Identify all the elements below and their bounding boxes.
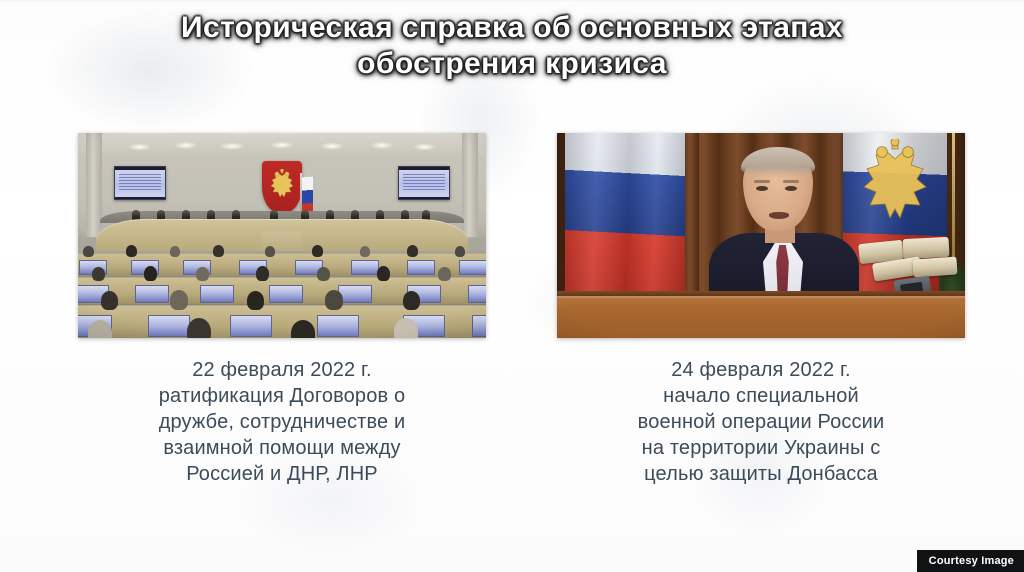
duma-display-screen-right (398, 166, 450, 200)
telephone (912, 256, 957, 277)
duma-desk-row (78, 277, 486, 304)
duma-ceiling-lights (104, 139, 460, 155)
duma-desk-row (78, 253, 486, 276)
eye-right (785, 186, 797, 191)
courtesy-image-badge: Courtesy Image (917, 550, 1024, 572)
presentation-slide: Историческая справка об основных этапах … (0, 0, 1024, 572)
duma-display-screen-left (114, 166, 166, 200)
eyebrow-left (754, 180, 770, 183)
panel-right: 24 февраля 2022 г. начало специальной во… (557, 133, 965, 487)
caption-left: 22 февраля 2022 г. ратификация Договоров… (78, 357, 486, 487)
double-headed-eagle-icon (861, 139, 929, 225)
hair (741, 147, 815, 177)
eyebrow-right (783, 180, 799, 183)
duma-seating-floor (78, 251, 486, 338)
mouth (769, 212, 789, 219)
top-edge-highlight (0, 0, 1024, 3)
desk-surface (557, 296, 965, 338)
caption-right: 24 февраля 2022 г. начало специальной во… (557, 357, 965, 487)
slide-title: Историческая справка об основных этапах … (0, 10, 1024, 82)
state-duma-session-photo (78, 133, 486, 338)
russian-coat-of-arms-emblem (262, 161, 302, 213)
russian-tricolour-flag (565, 133, 685, 311)
duma-pilaster-right (462, 133, 478, 237)
telephone (903, 237, 950, 259)
presidential-address-photo (557, 133, 965, 338)
double-headed-eagle-icon (269, 169, 295, 201)
duma-desk-row (78, 305, 486, 338)
panel-left: 22 февраля 2022 г. ратификация Договоров… (78, 133, 486, 487)
eye-left (756, 186, 768, 191)
